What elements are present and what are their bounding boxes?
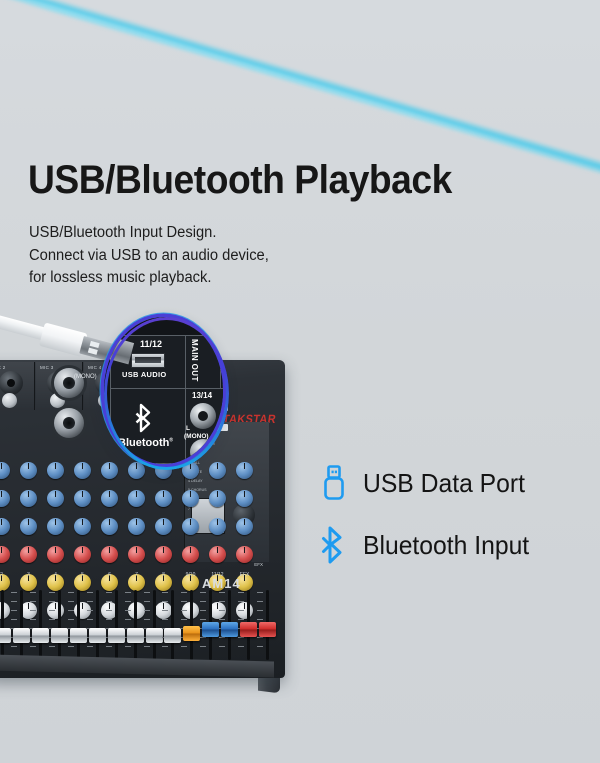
registered-mark: ® xyxy=(169,437,173,443)
usb-channel-label: 11/12 xyxy=(140,339,162,349)
fader-scale-tick xyxy=(238,610,244,611)
efx-send-knob xyxy=(182,546,199,563)
fader-scale-tick xyxy=(238,619,244,620)
channel-label: 2 xyxy=(0,572,15,578)
channel-fader[interactable] xyxy=(47,588,66,662)
eq-low-knob xyxy=(182,518,199,535)
channel-label: 9/10 xyxy=(177,572,204,578)
fader-scale-tick xyxy=(144,619,150,620)
mic-label: MIC 2 xyxy=(0,365,6,370)
fader-scale-tick xyxy=(11,610,17,611)
fader-scale-tick xyxy=(238,601,244,602)
efx-send-knob xyxy=(47,546,64,563)
fader-scale-tick xyxy=(30,619,36,620)
usb-flash-drive-icon xyxy=(313,465,355,501)
fader-scale-tick xyxy=(219,592,225,593)
fader-scale-tick xyxy=(181,601,187,602)
eq-mid-knob xyxy=(236,490,253,507)
fader-scale-tick xyxy=(162,592,168,593)
jack-mono-label: (MONO) xyxy=(184,433,209,440)
fader-scale-tick xyxy=(144,601,150,602)
fader-scale-tick xyxy=(125,601,131,602)
efx-send-knob xyxy=(209,546,226,563)
fader-scale-tick xyxy=(181,619,187,620)
eq-low-knob xyxy=(20,518,37,535)
gain-knob xyxy=(2,393,17,408)
fader-scale-tick xyxy=(106,619,112,620)
eq-high-knob xyxy=(236,462,253,479)
channel-fader[interactable] xyxy=(179,588,198,662)
fader-scale-tick xyxy=(68,619,74,620)
fader-scale-tick xyxy=(200,610,206,611)
fader-slot xyxy=(96,590,99,660)
eq-mid-knob xyxy=(155,490,172,507)
eq-high-knob xyxy=(209,462,226,479)
fader-scale-tick xyxy=(162,646,168,647)
eq-low-knob xyxy=(128,518,145,535)
fader-scale-tick xyxy=(219,601,225,602)
eq-high-knob xyxy=(0,462,10,479)
fader-scale-tick xyxy=(144,592,150,593)
bluetooth-panel-icon xyxy=(134,403,156,438)
fader-scale-tick xyxy=(87,619,93,620)
efx-send-knob xyxy=(74,546,91,563)
bluetooth-icon xyxy=(313,526,355,564)
fader-scale-tick xyxy=(87,610,93,611)
fader-scale-tick xyxy=(87,646,93,647)
channel-label: 8 xyxy=(150,572,177,578)
fader-scale-tick xyxy=(257,601,263,602)
channel-fader[interactable] xyxy=(104,588,123,662)
efx-send-knob xyxy=(0,546,10,563)
feature-list: USB Data Port Bluetooth Input xyxy=(313,452,538,576)
eq-high-knob xyxy=(128,462,145,479)
fader-scale-tick xyxy=(219,619,225,620)
eq-low-knob xyxy=(74,518,91,535)
eq-low-knob xyxy=(47,518,64,535)
page-title: USB/Bluetooth Playback xyxy=(28,160,452,200)
eq-low-knob xyxy=(155,518,172,535)
fader-scale-tick xyxy=(257,637,263,638)
fader-scale-tick xyxy=(219,637,225,638)
fader-scale-tick xyxy=(49,601,55,602)
efx-send-knob xyxy=(128,546,145,563)
channel-fader[interactable] xyxy=(9,588,28,662)
fader-scale-tick xyxy=(106,646,112,647)
channel-fader[interactable] xyxy=(236,588,255,662)
fader-scale-tick xyxy=(106,601,112,602)
fader-scale-tick xyxy=(106,592,112,593)
eq-mid-knob xyxy=(47,490,64,507)
fader-scale-tick xyxy=(49,592,55,593)
promo-graphic: USB/Bluetooth Playback USB/Bluetooth Inp… xyxy=(0,0,600,763)
fader-scale-tick xyxy=(125,646,131,647)
fader-scale-tick xyxy=(49,646,55,647)
main-out-jack-left xyxy=(54,368,84,398)
eq-high-knob xyxy=(101,462,118,479)
fader-scale-tick xyxy=(257,592,263,593)
fader-scale-tick xyxy=(106,610,112,611)
fader-scale-tick xyxy=(257,610,263,611)
channel-fader[interactable] xyxy=(142,588,161,662)
fader-scale-tick xyxy=(200,601,206,602)
fader-slot xyxy=(39,590,42,660)
knob-row-efx-send xyxy=(0,540,260,568)
channel-fader[interactable] xyxy=(123,588,142,662)
fader-scale-tick xyxy=(257,619,263,620)
fader-slot xyxy=(171,590,174,660)
bluetooth-wordmark: Bluetooth® xyxy=(118,437,173,449)
fader-scale-tick xyxy=(30,601,36,602)
eq-mid-knob xyxy=(209,490,226,507)
fader-slot xyxy=(1,590,4,660)
channel-label: 5 xyxy=(69,572,96,578)
knob-row-low xyxy=(0,512,260,540)
main-out-jack-right xyxy=(54,408,84,438)
fader-scale-tick xyxy=(11,592,17,593)
fader-scale-tick xyxy=(11,601,17,602)
channel-fader[interactable] xyxy=(28,588,47,662)
fader-scale-tick xyxy=(30,646,36,647)
fader-scale-tick xyxy=(162,601,168,602)
eq-high-knob xyxy=(74,462,91,479)
eq-high-knob xyxy=(47,462,64,479)
fader-slot xyxy=(134,590,137,660)
magnifier-content: 11/12 USB AUDIO MAIN OUT Bluetooth® 13/1… xyxy=(104,317,223,464)
fader-scale-tick xyxy=(125,610,131,611)
magnifier-callout: 11/12 USB AUDIO MAIN OUT Bluetooth® 13/1… xyxy=(104,317,223,464)
channel-label: 3 xyxy=(15,572,42,578)
efx-send-knob xyxy=(236,546,253,563)
mic-label: MIC 3 xyxy=(40,365,54,370)
eq-mid-knob xyxy=(182,490,199,507)
efx-send-knob xyxy=(101,546,118,563)
knob-row-mid xyxy=(0,484,260,512)
mic-input-cell: MIC 2 xyxy=(0,362,35,410)
fader-slot xyxy=(153,590,156,660)
fader-slot xyxy=(77,590,80,660)
feature-bluetooth-input: Bluetooth Input xyxy=(313,514,538,576)
channel-fader[interactable] xyxy=(255,588,274,662)
description-line-1: USB/Bluetooth Input Design. xyxy=(29,222,269,245)
eq-low-knob xyxy=(236,518,253,535)
fader-slot xyxy=(190,590,193,660)
description-text: USB/Bluetooth Input Design. Connect via … xyxy=(29,222,269,290)
fader-scale-tick xyxy=(30,592,36,593)
fader-scale-tick xyxy=(200,637,206,638)
fader-cap[interactable] xyxy=(259,622,276,637)
fader-scale-tick xyxy=(144,610,150,611)
channel-label: 6 xyxy=(96,572,123,578)
fader-slot xyxy=(115,590,118,660)
fader-scale-tick xyxy=(200,646,206,647)
jack-left-label: L xyxy=(186,425,190,432)
fader-scale-tick xyxy=(11,646,17,647)
fader-scale-tick xyxy=(238,592,244,593)
eq-high-knob xyxy=(20,462,37,479)
usb-audio-label: USB AUDIO xyxy=(122,370,167,379)
fader-scale-tick xyxy=(125,619,131,620)
eq-mid-knob xyxy=(101,490,118,507)
channel-fader[interactable] xyxy=(217,588,236,662)
mic-label: MIC 4 xyxy=(88,365,102,370)
fader-scale-tick xyxy=(68,601,74,602)
eq-low-knob xyxy=(209,518,226,535)
fader-scale-tick xyxy=(11,619,17,620)
eq-mid-knob xyxy=(74,490,91,507)
fader-scale-tick xyxy=(30,610,36,611)
fader-scale-tick xyxy=(144,646,150,647)
eq-high-knob xyxy=(182,462,199,479)
fader-scale-tick xyxy=(238,646,244,647)
fader-scale-tick xyxy=(68,610,74,611)
channel-fader[interactable] xyxy=(85,588,104,662)
eq-low-knob xyxy=(101,518,118,535)
fader-scale-tick xyxy=(200,592,206,593)
fader-scale-tick xyxy=(238,637,244,638)
eq-low-knob xyxy=(0,518,10,535)
fader-scale-tick xyxy=(68,646,74,647)
fader-bank xyxy=(0,588,274,662)
eq-mid-knob xyxy=(20,490,37,507)
xlr-jack-icon xyxy=(0,371,23,395)
eq-mid-knob xyxy=(0,490,10,507)
fader-scale-tick xyxy=(181,610,187,611)
fader-slot xyxy=(20,590,23,660)
description-line-3: for lossless music playback. xyxy=(29,267,269,290)
eq-high-knob xyxy=(155,462,172,479)
fader-scale-tick xyxy=(200,619,206,620)
fader-scale-tick xyxy=(257,646,263,647)
line-in-jack-l xyxy=(190,403,216,429)
channel-fader[interactable] xyxy=(160,588,179,662)
eq-mid-knob xyxy=(128,490,145,507)
line-in-jack-r xyxy=(190,439,216,464)
channel-fader[interactable] xyxy=(198,588,217,662)
feature-usb-data-port: USB Data Port xyxy=(313,452,538,514)
fader-scale-tick xyxy=(181,646,187,647)
line-channel-label: 13/14 xyxy=(192,391,212,400)
description-line-2: Connect via USB to an audio device, xyxy=(29,245,269,268)
fader-slot xyxy=(58,590,61,660)
bluetooth-word: Bluetooth xyxy=(118,437,169,449)
fader-scale-tick xyxy=(219,646,225,647)
fader-scale-tick xyxy=(125,592,131,593)
channel-fader[interactable] xyxy=(0,588,9,662)
feature-label: USB Data Port xyxy=(363,468,525,499)
usb-port-icon xyxy=(131,353,165,368)
efx-send-knob xyxy=(20,546,37,563)
feature-label: Bluetooth Input xyxy=(363,530,529,561)
channel-label: 7 xyxy=(123,572,150,578)
fader-scale-tick xyxy=(68,592,74,593)
fader-scale-tick xyxy=(49,619,55,620)
fader-scale-tick xyxy=(87,601,93,602)
fader-scale-tick xyxy=(219,610,225,611)
fader-scale-tick xyxy=(162,619,168,620)
channel-fader[interactable] xyxy=(66,588,85,662)
fader-scale-tick xyxy=(162,610,168,611)
fader-scale-tick xyxy=(49,610,55,611)
main-out-label: MAIN OUT xyxy=(190,339,199,382)
fader-scale-tick xyxy=(87,592,93,593)
efx-send-knob xyxy=(155,546,172,563)
channel-label: 4 xyxy=(42,572,69,578)
mono-label: (MONO) xyxy=(74,374,97,380)
fader-scale-tick xyxy=(181,592,187,593)
